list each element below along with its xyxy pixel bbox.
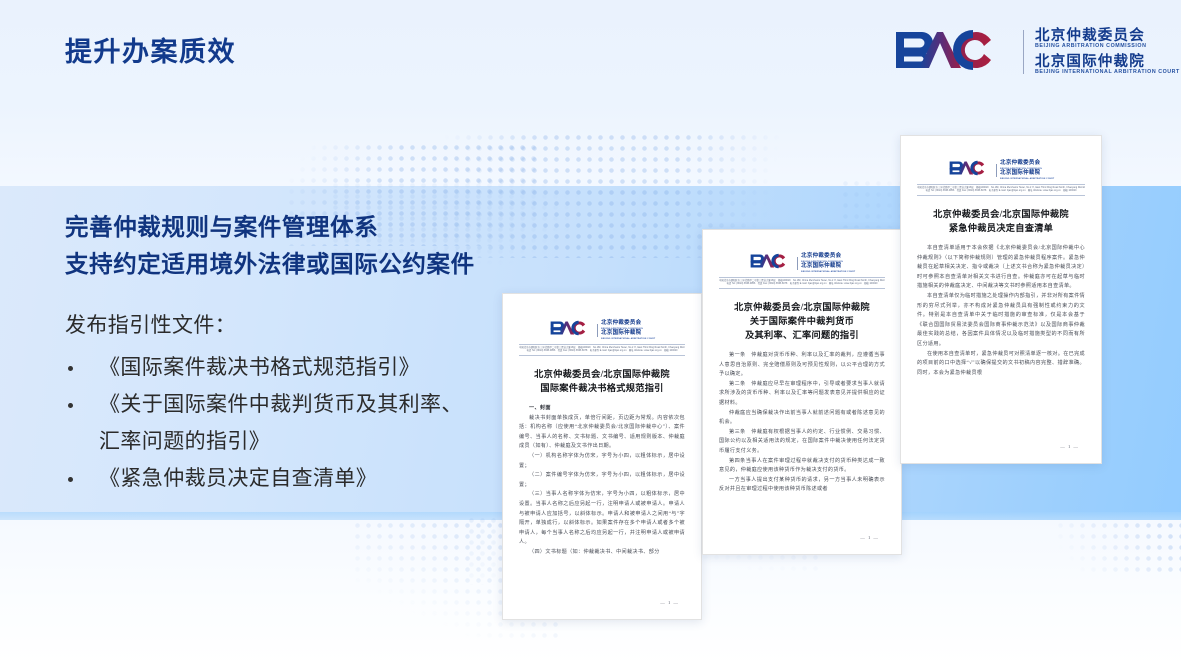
- logo-divider: [1023, 30, 1024, 74]
- document-title-line-1: 北京仲裁委员会/北京国际仲裁院: [917, 207, 1085, 221]
- list-item-label: 《紧急仲裁员决定自查清单》: [99, 467, 377, 490]
- document-title-line-3: 及其利率、汇率问题的指引: [719, 328, 885, 342]
- slide-root: 提升办案质效: [0, 0, 1181, 665]
- bac-name-cn-primary: 北京仲裁委员会: [601, 321, 655, 327]
- document-address-line-2: 电话 Tel: (8610) 6566 9856 传真 Fax: (8610) …: [917, 190, 1085, 194]
- bac-logo: 北京仲裁委员会 BEIJING ARBITRATION COMMISSION 北…: [893, 28, 1177, 76]
- bac-logotype-icon: [893, 28, 1011, 77]
- bac-logo-text: 北京仲裁委员会 BEIJING ARBITRATION COMMISSION 北…: [1035, 29, 1177, 75]
- bac-name-cn-secondary: 北京国际仲裁院: [801, 264, 855, 270]
- document-letterhead-logo: 北京仲裁委员会 BEIJING ARBITRATION COMMISSION 北…: [719, 253, 885, 274]
- document-preview-currency-guideline[interactable]: 北京仲裁委员会 BEIJING ARBITRATION COMMISSION 北…: [702, 229, 902, 555]
- headline-line-2: 支持约定适用境外法律或国际公约案件: [65, 246, 475, 283]
- headline-line-1: 完善仲裁规则与案件管理体系: [65, 209, 475, 246]
- list-item-label: 《关于国际案件中裁判货币及其利率、: [99, 393, 463, 416]
- document-address-block: 中国北京市朝阳区东三环北路甲二号第三置业大厦16层 邮编100020 No.16…: [917, 184, 1085, 196]
- document-title-line-2: 关于国际案件中裁判货币: [719, 314, 885, 328]
- document-paragraph: 第三条 仲裁庭有权根据当事人的约定、行业惯例、交易习惯、国际公约以及相关适用法的…: [719, 428, 885, 457]
- list-item: 《关于国际案件中裁判货币及其利率、 汇率问题的指引》: [65, 386, 535, 460]
- document-title-line-2: 紧急仲裁员决定自查清单: [917, 221, 1085, 235]
- document-title: 北京仲裁委员会/北京国际仲裁院 紧急仲裁员决定自查清单: [917, 207, 1085, 235]
- document-paragraph: 一、封面: [519, 404, 685, 414]
- list-item-label-continued: 汇率问题的指引》: [99, 423, 535, 460]
- document-paragraph: 本自查清单仅为临时措施之处理操作内部指引，并非对所有案件情形的穷尽式列举，亦不构…: [917, 292, 1085, 350]
- document-paragraph: （四）文书标题（如：仲裁裁决书、中间裁决书、部分: [519, 548, 685, 558]
- document-address-block: 中国北京市朝阳区东三环北路甲二号第三置业大厦16层 邮编100020 No.16…: [519, 344, 685, 356]
- bac-name-en-primary: BEIJING ARBITRATION COMMISSION: [1035, 44, 1180, 49]
- bac-name-en-secondary: BEIJING INTERNATIONAL ARBITRATION COURT: [1035, 70, 1180, 75]
- document-paragraph: 在使用本自查清单时，紧急仲裁员可对照清单逐一核对。在已完成的项目前的口中选择“√…: [917, 350, 1085, 379]
- bullet-list: 《国际案件裁决书格式规范指引》 《关于国际案件中裁判货币及其利率、 汇率问题的指…: [65, 349, 535, 497]
- document-letterhead-text: 北京仲裁委员会 BEIJING ARBITRATION COMMISSION 北…: [601, 321, 655, 340]
- document-body: 本自查清单适用于本会依据《北京仲裁委员会/北京国际仲裁中心仲裁规则》（以下简称仲…: [917, 244, 1085, 378]
- bac-name-en-secondary: BEIJING INTERNATIONAL ARBITRATION COURT: [1000, 178, 1054, 180]
- lead-text: 发布指引性文件：: [65, 310, 236, 342]
- logo-divider: [597, 324, 598, 337]
- document-page-number: — 1 —: [660, 600, 679, 605]
- logo-divider: [797, 257, 798, 270]
- document-address-line-2: 电话 Tel: (8610) 6566 9856 传真 Fax: (8610) …: [519, 350, 685, 354]
- bac-logotype-icon: [549, 320, 593, 341]
- logo-divider: [996, 164, 997, 177]
- document-letterhead-logo: 北京仲裁委员会 BEIJING ARBITRATION COMMISSION 北…: [519, 320, 685, 341]
- document-paragraph: 第二条 仲裁庭应尽早在审理程序中，引导或者要求当事人就请求所涉及的货币币种、利率…: [719, 380, 885, 409]
- document-paragraph: 仲裁庭应当确保裁决作出前当事人就前述问题有或者陈述意见的机会。: [719, 409, 885, 428]
- document-paragraph: 本自查清单适用于本会依据《北京仲裁委员会/北京国际仲裁中心仲裁规则》（以下简称仲…: [917, 244, 1085, 292]
- bac-name-en-secondary: BEIJING INTERNATIONAL ARBITRATION COURT: [801, 271, 855, 273]
- bac-logotype-icon: [948, 160, 992, 181]
- document-paragraph: （三）当事人名称字体为仿宋，字号为小四，以粗体标示，居中设置。当事人名称之后应另…: [519, 490, 685, 548]
- page-title: 提升办案质效: [65, 36, 236, 68]
- document-paragraph: 一方当事人提出支付某种货币的请求，另一方当事人未明确表示反对并且在审理过程中使用…: [719, 476, 885, 495]
- document-paragraph: （二）案件编号字体为仿宋，字号为小四，以粗体标示，居中设置；: [519, 471, 685, 490]
- document-page-number: — 1 —: [1060, 444, 1079, 449]
- document-title-line-1: 北京仲裁委员会/北京国际仲裁院: [519, 367, 685, 381]
- bac-name-cn-secondary: 北京国际仲裁院: [1035, 55, 1177, 70]
- bac-logotype-icon: [749, 253, 793, 274]
- document-address-line-2: 电话 Tel: (8610) 6566 9856 传真 Fax: (8610) …: [719, 283, 885, 287]
- document-letterhead-logo: 北京仲裁委员会 BEIJING ARBITRATION COMMISSION 北…: [917, 160, 1085, 181]
- bac-name-cn-primary: 北京仲裁委员会: [1035, 29, 1177, 44]
- document-title: 北京仲裁委员会/北京国际仲裁院 国际案件裁决书格式规范指引: [519, 367, 685, 395]
- document-body: 一、封面 裁决书封面单独成页，单倍行间距，页边距为常规。内容依次包括：机构名称（…: [519, 404, 685, 558]
- document-title-line-1: 北京仲裁委员会/北京国际仲裁院: [719, 300, 885, 314]
- bac-name-cn-secondary: 北京国际仲裁院: [1000, 171, 1054, 177]
- bac-name-cn-primary: 北京仲裁委员会: [801, 254, 855, 260]
- section-headline: 完善仲裁规则与案件管理体系 支持约定适用境外法律或国际公约案件: [65, 209, 475, 283]
- bac-name-cn-primary: 北京仲裁委员会: [1000, 161, 1054, 167]
- list-item-label: 《国际案件裁决书格式规范指引》: [99, 356, 420, 379]
- document-letterhead-text: 北京仲裁委员会 BEIJING ARBITRATION COMMISSION 北…: [801, 254, 855, 273]
- document-address-block: 中国北京市朝阳区东三环北路甲二号第三置业大厦16层 邮编100020 No.16…: [719, 277, 885, 289]
- list-item: 《紧急仲裁员决定自查清单》: [65, 460, 535, 497]
- list-item: 《国际案件裁决书格式规范指引》: [65, 349, 535, 386]
- bac-name-cn-secondary: 北京国际仲裁院: [601, 331, 655, 337]
- document-body: 第一条 仲裁庭对货币币种、利率以及汇率的裁判，应遵循当事人意思自治原则、完全赔偿…: [719, 351, 885, 495]
- document-title: 北京仲裁委员会/北京国际仲裁院 关于国际案件中裁判货币 及其利率、汇率问题的指引: [719, 300, 885, 342]
- bac-name-en-secondary: BEIJING INTERNATIONAL ARBITRATION COURT: [601, 338, 655, 340]
- document-preview-award-format[interactable]: 北京仲裁委员会 BEIJING ARBITRATION COMMISSION 北…: [502, 293, 702, 620]
- document-paragraph: （一）机构名称字体为仿宋，字号为小四，以粗体标示，居中设置；: [519, 452, 685, 471]
- document-letterhead-text: 北京仲裁委员会 BEIJING ARBITRATION COMMISSION 北…: [1000, 161, 1054, 180]
- document-paragraph: 裁决书封面单独成页，单倍行间距，页边距为常规。内容依次包括：机构名称（应使用“北…: [519, 414, 685, 452]
- document-preview-emergency-checklist[interactable]: 北京仲裁委员会 BEIJING ARBITRATION COMMISSION 北…: [900, 135, 1102, 464]
- document-page-number: — 1 —: [860, 535, 879, 540]
- document-title-line-2: 国际案件裁决书格式规范指引: [519, 381, 685, 395]
- document-paragraph: 第四条当事人在案件审理过程中就裁决支付的货币种类达成一致意见的，仲裁庭应使用该种…: [719, 457, 885, 476]
- document-paragraph: 第一条 仲裁庭对货币币种、利率以及汇率的裁判，应遵循当事人意思自治原则、完全赔偿…: [719, 351, 885, 380]
